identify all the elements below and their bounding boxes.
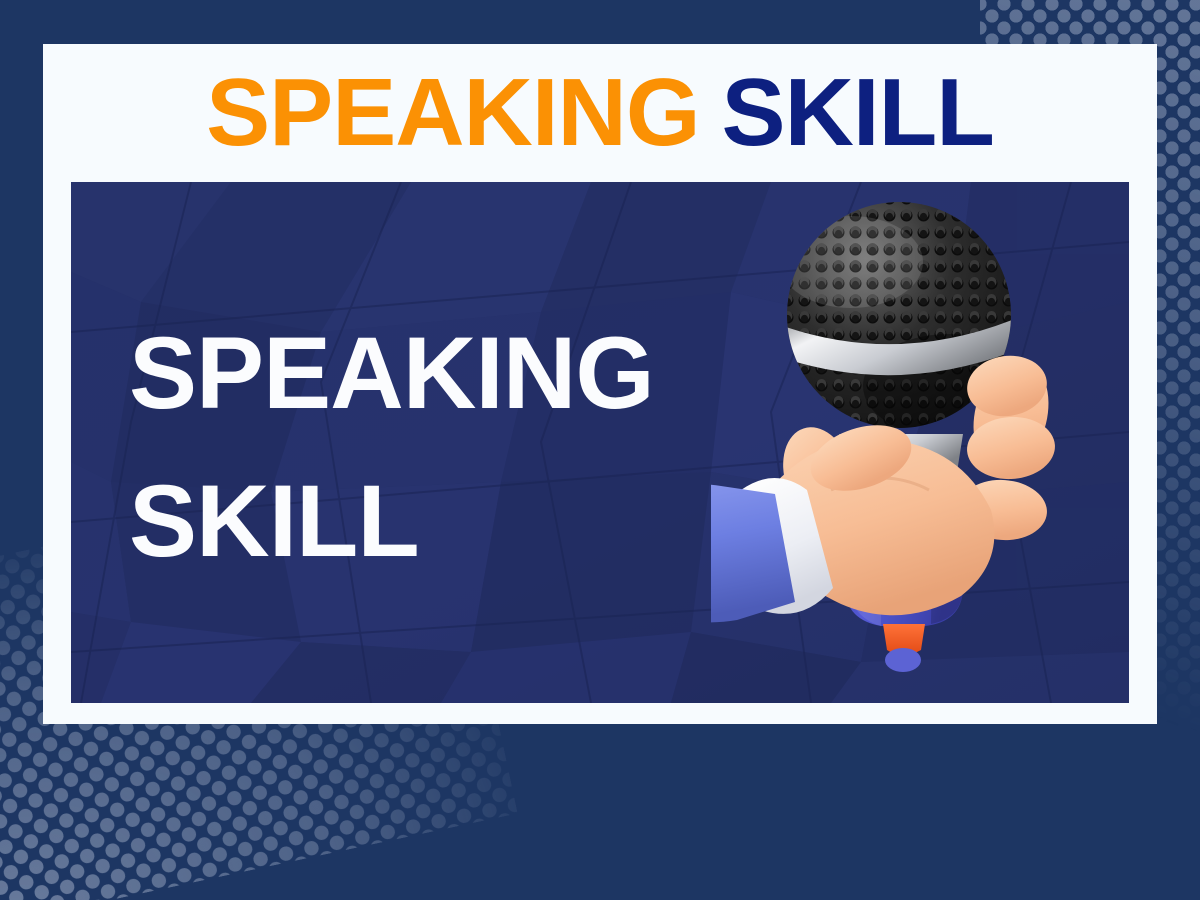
- poster-heading: SPEAKING SKILL: [43, 44, 1157, 182]
- heading-word-skill: SKILL: [722, 65, 994, 161]
- microphone-illustration: [711, 190, 1129, 690]
- panel-headline: SPEAKING SKILL: [129, 300, 654, 596]
- panel-headline-line-1: SPEAKING: [129, 300, 654, 448]
- hero-panel: SPEAKING SKILL: [71, 182, 1129, 703]
- poster-canvas: SPEAKING SKILL: [0, 0, 1200, 900]
- microphone-cap: [883, 624, 925, 672]
- panel-headline-line-2: SKILL: [129, 448, 654, 596]
- heading-word-speaking: SPEAKING: [206, 65, 699, 161]
- white-card: SPEAKING SKILL: [43, 44, 1157, 724]
- hand-holding-microphone-icon: [711, 190, 1129, 690]
